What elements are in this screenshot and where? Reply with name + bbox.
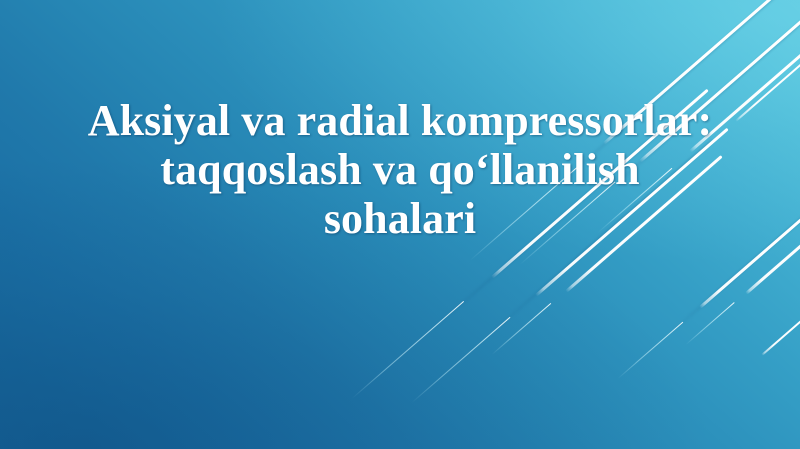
streak-tail	[470, 167, 578, 261]
streak-shadow	[599, 19, 800, 198]
streak-tail	[618, 322, 684, 379]
streak-shadow	[485, 140, 713, 339]
streak	[603, 0, 795, 145]
streak	[745, 207, 800, 294]
shadow-overlay	[0, 0, 800, 449]
streak	[699, 204, 800, 309]
streak	[761, 294, 800, 356]
streak-tail	[412, 317, 511, 403]
streak-tail	[352, 301, 464, 399]
slide-title: Aksiyal va radial kompressorlar: taqqosl…	[80, 96, 720, 243]
streak-tail	[668, 132, 725, 181]
title-slide: Aksiyal va radial kompressorlar: taqqosl…	[0, 0, 800, 449]
highlight-overlay	[0, 0, 800, 449]
streak	[491, 89, 709, 279]
streak-tail	[520, 181, 616, 264]
streak	[639, 8, 800, 162]
streak-tail	[686, 302, 735, 345]
streak-tail	[598, 168, 673, 233]
streak	[565, 155, 722, 292]
diagonal-streaks-decoration	[0, 0, 800, 449]
streak-shadow	[429, 114, 680, 333]
streak	[689, 22, 800, 153]
streak	[735, 22, 800, 122]
streak-shadow	[555, 0, 783, 188]
streak-tail	[492, 303, 552, 355]
streak-shadow	[671, 212, 800, 332]
streak	[535, 128, 729, 297]
title-block: Aksiyal va radial kompressorlar: taqqosl…	[0, 96, 800, 243]
